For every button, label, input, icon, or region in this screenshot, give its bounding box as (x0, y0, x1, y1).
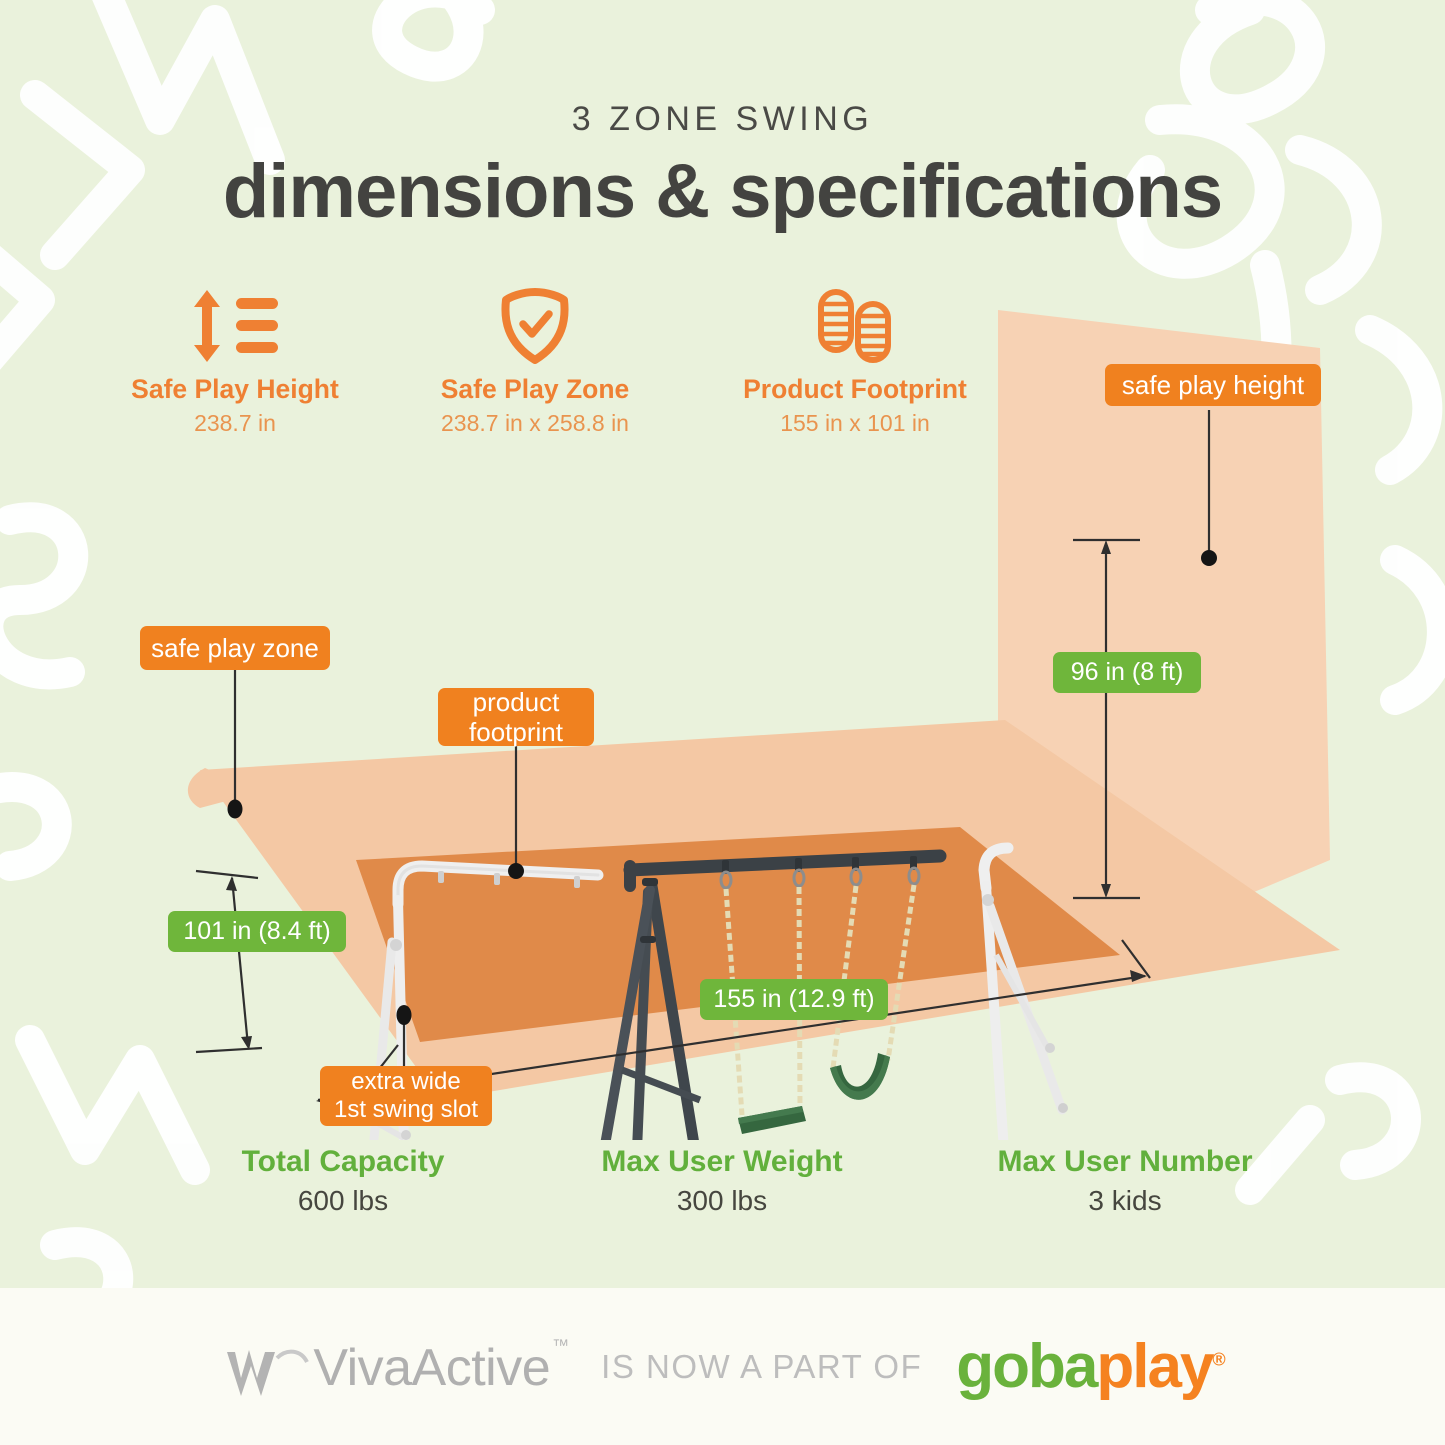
callout-line-2: footprint (469, 717, 563, 747)
eyebrow-title: 3 ZONE SWING (0, 100, 1445, 139)
stat-value: 300 lbs (497, 1185, 947, 1217)
vivaactive-logo: VivaActive ™ (221, 1334, 567, 1400)
depth-tick-bottom (196, 1048, 262, 1052)
callout-product-footprint[interactable]: product footprint (438, 688, 594, 746)
vivaactive-wordmark: VivaActive (313, 1338, 550, 1398)
callout-extra-wide-slot[interactable]: extra wide 1st swing slot (320, 1066, 492, 1126)
registered-symbol: ® (1212, 1349, 1223, 1369)
gobaplay-logo: gobaplay® (956, 1331, 1223, 1402)
dot-safe-play-zone (228, 800, 243, 819)
stat-max-user-weight: Max User Weight 300 lbs (497, 1145, 947, 1217)
dot-extra-wide (397, 1005, 412, 1025)
depth-extent-line (232, 878, 248, 1046)
stat-value: 3 kids (900, 1185, 1350, 1217)
stat-max-user-number: Max User Number 3 kids (900, 1145, 1350, 1217)
dimension-badge-width[interactable]: 155 in (12.9 ft) (700, 979, 888, 1020)
gobaplay-play: play (1096, 1332, 1212, 1401)
stat-title: Max User Number (900, 1145, 1350, 1179)
footer-connector-text: IS NOW A PART OF (601, 1348, 922, 1386)
infographic-canvas: 3 ZONE SWING dimensions & specifications… (0, 0, 1445, 1445)
depth-tick-top (196, 871, 258, 878)
footer-brand-bar: VivaActive ™ IS NOW A PART OF gobaplay® (0, 1288, 1445, 1445)
dot-safe-play-height (1201, 550, 1217, 566)
stats-row: Total Capacity 600 lbs Max User Weight 3… (0, 1145, 1445, 1245)
dimension-badge-height[interactable]: 96 in (8 ft) (1053, 652, 1201, 693)
vivaactive-mark-icon (221, 1340, 313, 1406)
callout-line-1: extra wide (351, 1068, 460, 1096)
callout-line-2: 1st swing slot (334, 1096, 478, 1124)
gobaplay-goba: goba (956, 1332, 1096, 1401)
callout-line-1: product (473, 687, 560, 717)
page-title: dimensions & specifications (0, 148, 1445, 235)
trademark-symbol: ™ (552, 1336, 569, 1356)
stat-title: Max User Weight (497, 1145, 947, 1179)
dimension-badge-depth[interactable]: 101 in (8.4 ft) (168, 911, 346, 952)
callout-safe-play-height[interactable]: safe play height (1105, 364, 1321, 406)
callout-safe-play-zone[interactable]: safe play zone (140, 626, 330, 670)
dot-product-footprint (508, 863, 524, 879)
